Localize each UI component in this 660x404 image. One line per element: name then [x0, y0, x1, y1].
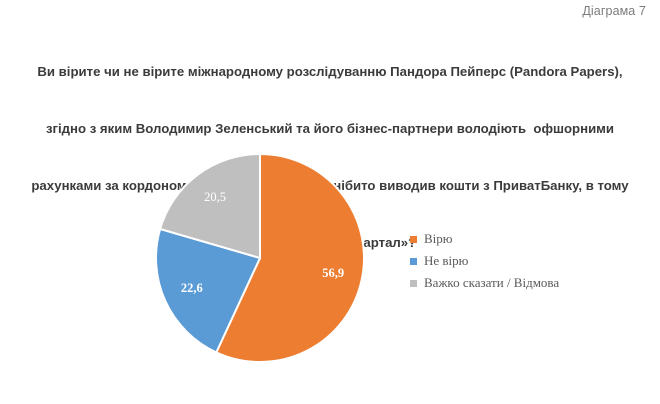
legend-item-believe[interactable]: Вірю — [410, 228, 650, 250]
pie-data-label-hard-to-say: 20,5 — [204, 190, 226, 204]
title-line-1: Ви вірите чи не вірите міжнародному розс… — [14, 62, 646, 81]
pie-data-label-believe: 56,9 — [322, 266, 344, 280]
pie-data-label-not-believe: 22,6 — [181, 281, 203, 295]
pie-chart: 56,922,620,5 — [148, 146, 372, 370]
legend-item-not-believe[interactable]: Не вірю — [410, 250, 650, 272]
legend-item-hard-to-say[interactable]: Важко сказати / Відмова — [410, 272, 650, 294]
chart-legend: Вірю Не вірю Важко сказати / Відмова — [410, 228, 650, 294]
pie-slice-group — [156, 154, 364, 362]
legend-swatch-believe — [410, 236, 417, 243]
figure-caption: Діаграма 7 — [582, 4, 646, 18]
legend-swatch-not-believe — [410, 258, 417, 265]
chart-plot-area: 56,922,620,5 Вірю Не вірю Важко сказати … — [0, 120, 660, 404]
legend-swatch-hard-to-say — [410, 280, 417, 287]
legend-label-hard-to-say: Важко сказати / Відмова — [424, 275, 559, 291]
legend-label-not-believe: Не вірю — [424, 253, 468, 269]
legend-label-believe: Вірю — [424, 231, 453, 247]
pie-chart-svg: 56,922,620,5 — [148, 146, 372, 370]
